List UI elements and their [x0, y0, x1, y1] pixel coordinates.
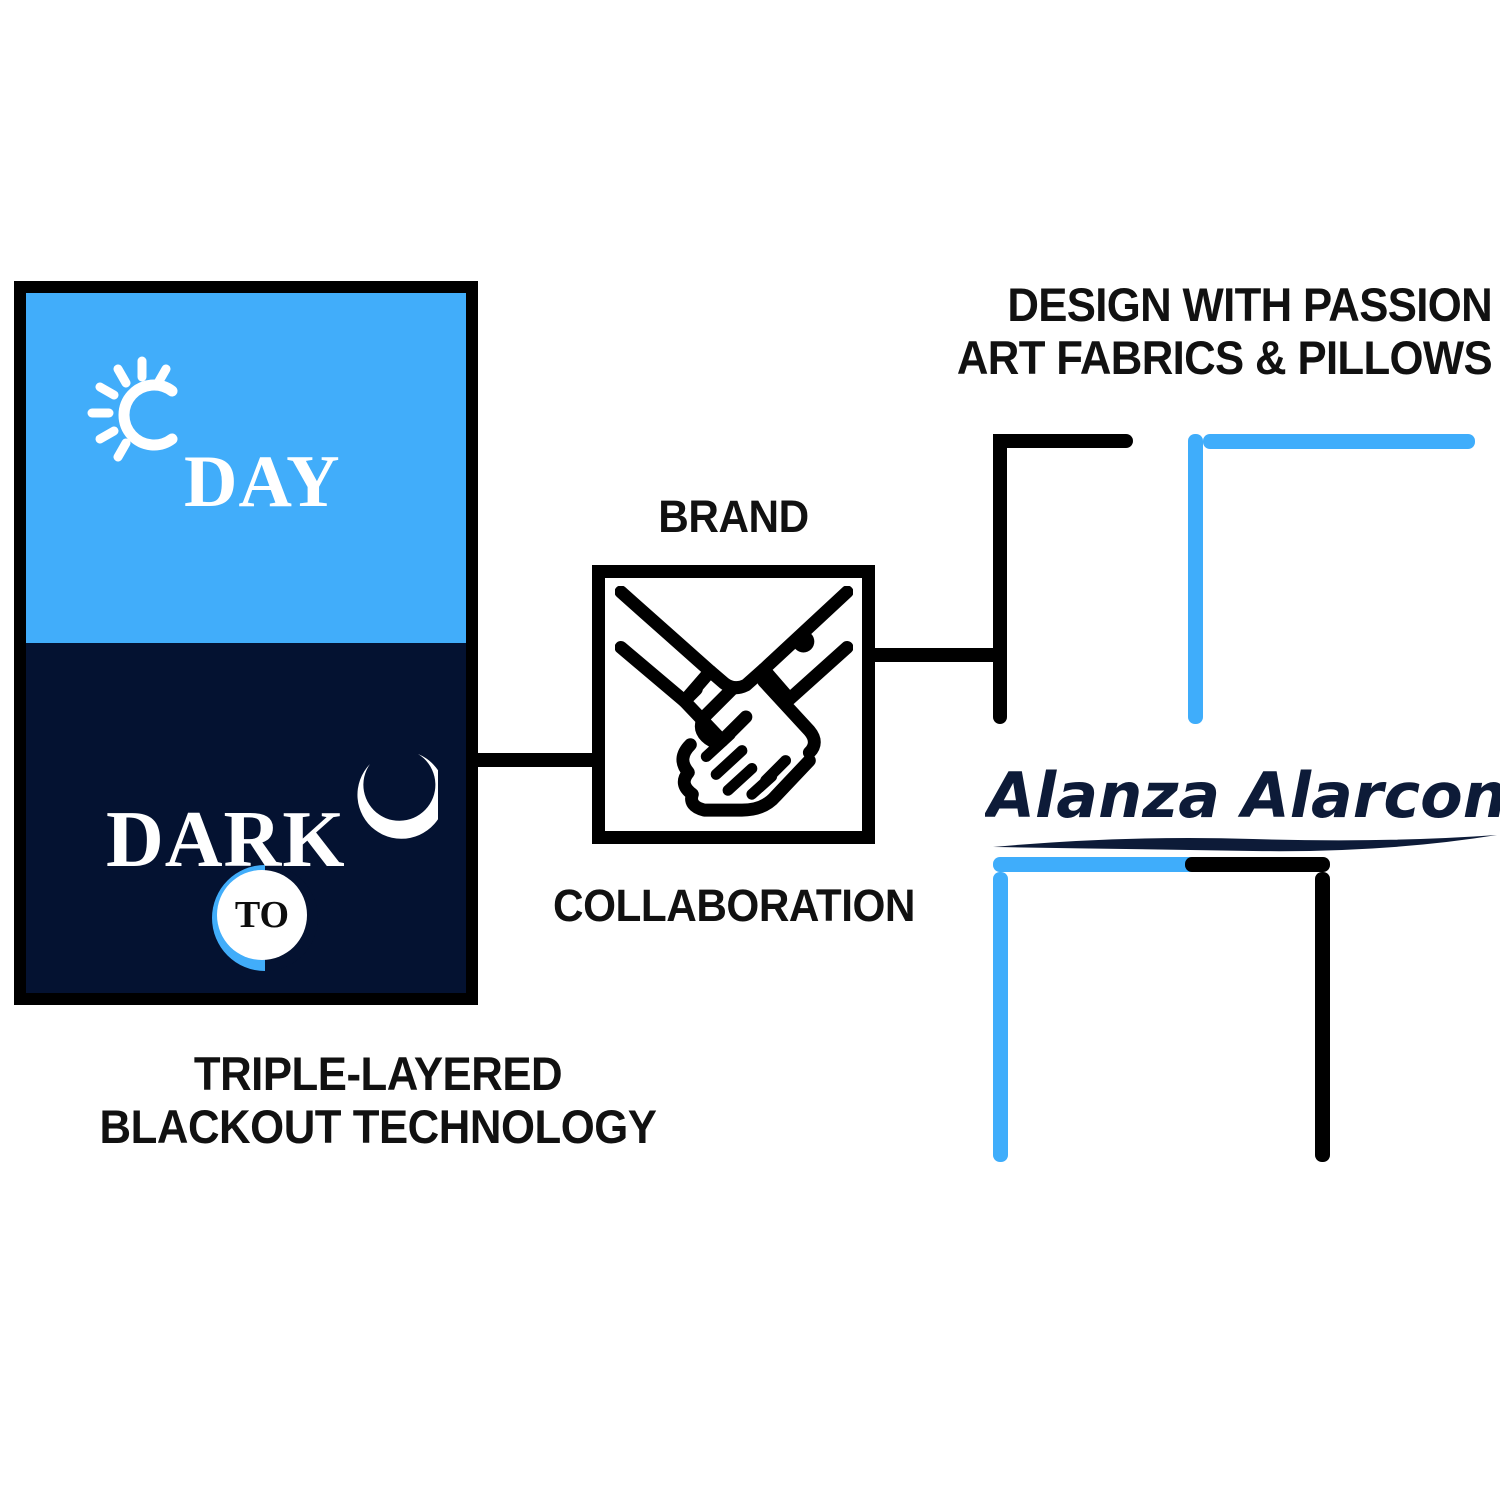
- connector-card-to-handshake: [474, 753, 598, 767]
- infographic-canvas: DAY TO DARK TRIPLE-LAYERED BLACKOUT TECH…: [0, 0, 1500, 1500]
- designer-signature-text: Alanza Alarcon: [985, 759, 1500, 832]
- handshake-cuff-dot: [792, 630, 814, 652]
- frame-bracket-bottom-left-arm-v: [993, 872, 1008, 1162]
- moon-icon: [346, 750, 438, 842]
- frame-bracket-top-left-arm-v: [993, 434, 1007, 724]
- connector-handshake-to-designer-horizontal: [870, 648, 1007, 662]
- product-card: DAY TO DARK: [14, 281, 478, 1005]
- designer-signature: Alanza Alarcon: [985, 735, 1500, 865]
- frame-bracket-top-right-arm-v: [1188, 434, 1203, 724]
- frame-bracket-top-left-arm-h: [993, 434, 1133, 448]
- handshake-box: [592, 565, 875, 844]
- brand-label: BRAND: [600, 491, 866, 543]
- dark-label: DARK: [106, 800, 346, 880]
- designer-headline-line-1: DESIGN WITH PASSION: [923, 278, 1492, 331]
- handshake-icon: [615, 586, 853, 824]
- sun-icon: [84, 355, 200, 471]
- product-caption-line-2: BLACKOUT TECHNOLOGY: [26, 1101, 729, 1154]
- frame-bracket-top-right-arm-h: [1203, 434, 1475, 449]
- designer-headline-line-2: ART FABRICS & PILLOWS: [923, 331, 1492, 384]
- signature-underline: [993, 835, 1497, 851]
- collaboration-label: COLLABORATION: [480, 880, 988, 932]
- designer-headline: DESIGN WITH PASSION ART FABRICS & PILLOW…: [923, 278, 1492, 384]
- frame-bracket-bottom-right-arm-v: [1315, 872, 1330, 1162]
- to-label: TO: [235, 893, 289, 937]
- day-label: DAY: [184, 445, 341, 519]
- product-caption-line-1: TRIPLE-LAYERED: [26, 1048, 729, 1101]
- product-caption: TRIPLE-LAYERED BLACKOUT TECHNOLOGY: [26, 1048, 729, 1153]
